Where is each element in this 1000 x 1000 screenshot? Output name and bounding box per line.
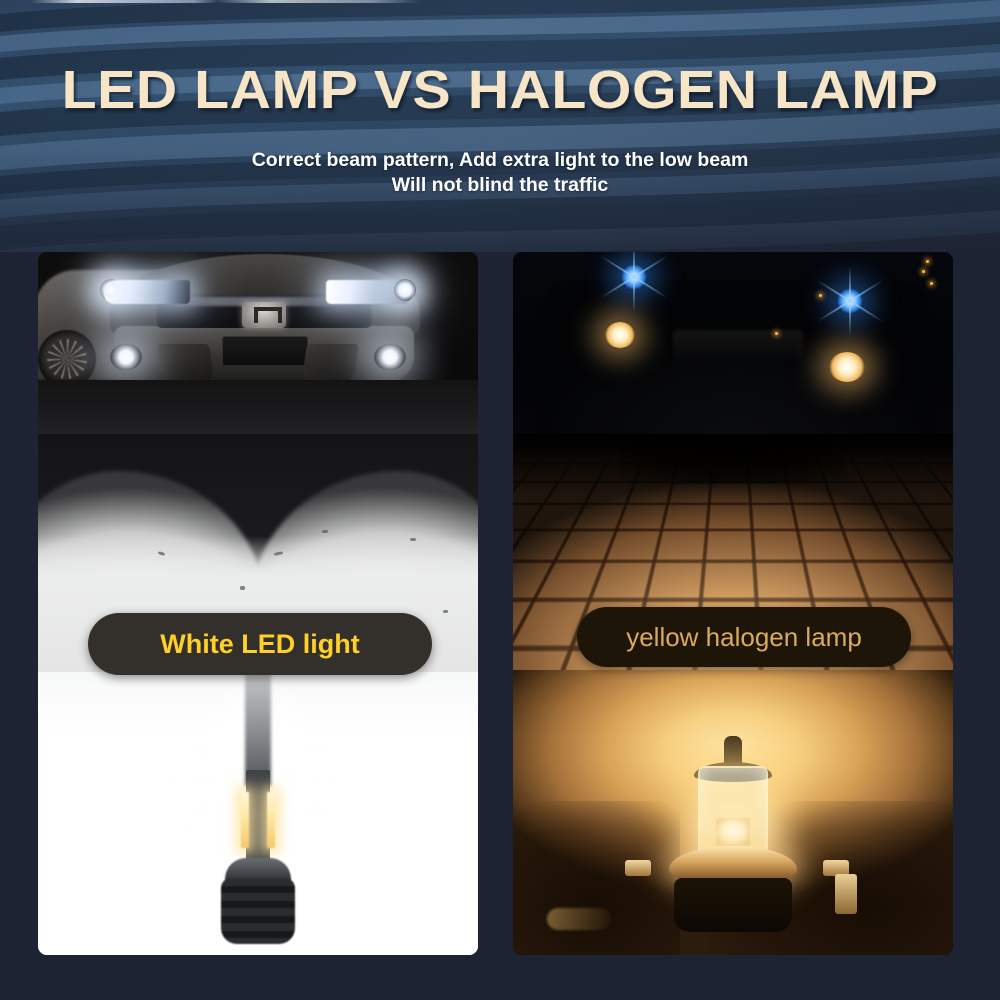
distant-light-dot (930, 282, 933, 285)
comparison-cards: White LED light (38, 252, 962, 955)
bulb-wiring (547, 908, 611, 930)
halogen-label-text: yellow halogen lamp (626, 622, 862, 653)
fog-light-left (110, 344, 142, 370)
floor-debris (322, 530, 328, 533)
headlight-core-left (100, 279, 122, 301)
led-bulb-photo (38, 672, 478, 955)
license-plate-holder (222, 336, 308, 366)
led-label-text: White LED light (160, 629, 359, 660)
floor-debris (443, 610, 448, 613)
car-shadow-on-pavement (619, 434, 848, 484)
halogen-filament (716, 818, 750, 846)
bulb-plastic-base (674, 878, 792, 932)
halogen-label-pill[interactable]: yellow halogen lamp (577, 607, 911, 667)
dark-car-silhouette (535, 280, 935, 440)
subtitle-line-1: Correct beam pattern, Add extra light to… (252, 149, 749, 171)
bulb-shadow-left (513, 801, 680, 955)
headlight-core-right (394, 279, 416, 301)
halogen-glass-envelope (698, 766, 768, 858)
led-night-car-photo (38, 252, 478, 442)
floor-debris (240, 586, 245, 590)
honda-emblem-icon (242, 302, 286, 328)
led-vs-halogen-infographic: LED LAMP VS HALOGEN LAMP Correct beam pa… (0, 0, 1000, 1000)
distant-light-dot (819, 294, 822, 297)
warm-light-left (605, 322, 635, 348)
distant-light-dot (775, 332, 778, 335)
bulb-body (246, 770, 270, 868)
faint-license-plate (673, 330, 803, 360)
bulb-heatsink-base (221, 878, 295, 944)
page-title: LED LAMP VS HALOGEN LAMP (0, 63, 1000, 117)
led-chip-left (241, 792, 249, 848)
blue-light-flare-left (621, 264, 647, 290)
halogen-night-car-photo (513, 252, 953, 452)
bulb-locating-tab-left (625, 860, 651, 876)
subtitle-line-2: Will not blind the traffic (0, 173, 1000, 198)
led-card[interactable]: White LED light (38, 252, 478, 955)
distant-light-dot (922, 270, 925, 273)
led-chip-right (267, 792, 275, 848)
bulb-connector (835, 874, 857, 914)
led-label-pill[interactable]: White LED light (88, 613, 432, 675)
fog-light-right (374, 344, 406, 370)
blue-light-flare-right (837, 288, 863, 314)
halogen-card[interactable]: yellow halogen lamp (513, 252, 953, 955)
foreground-ground (38, 380, 478, 442)
wave-band-group (0, 0, 1000, 252)
floor-debris (410, 538, 416, 541)
warm-light-right (829, 352, 865, 382)
page-subtitle: Correct beam pattern, Add extra light to… (0, 148, 1000, 198)
distant-light-dot (926, 260, 929, 263)
header-background (0, 0, 1000, 252)
bulb-upper-stem (245, 672, 271, 786)
halogen-bulb-photo (513, 670, 953, 955)
top-edge-glint (30, 0, 420, 3)
wave-pattern-svg (0, 0, 1000, 252)
